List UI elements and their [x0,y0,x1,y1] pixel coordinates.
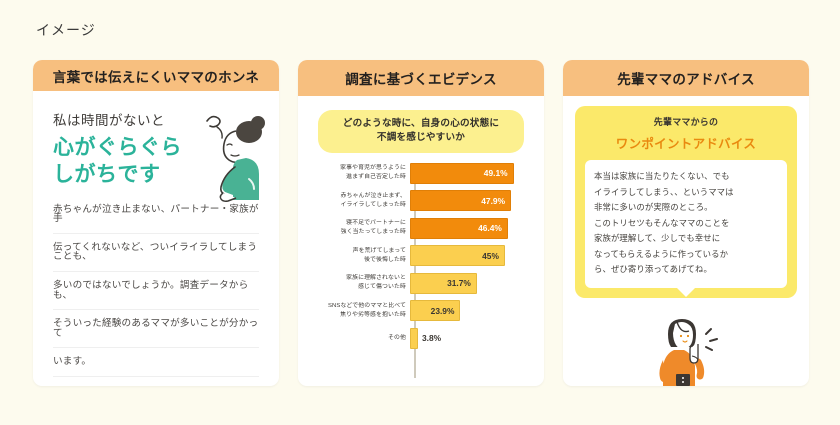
page-root: イメージ 言葉では伝えにくいママのホンネ [0,0,840,425]
chart-bar-value: 3.8% [417,333,441,343]
chart-bar: 49.1% [410,163,514,184]
card-2-header: 調査に基づくエビデンス [298,60,544,96]
woman-pointing-up-illustration [646,312,726,386]
chart-bar-area: 23.9% [410,300,532,321]
chart-rows: 家事や育児が思うように進まず自己否定した時49.1%赤ちゃんが泣き止まず、イライ… [310,163,532,349]
chart-bar-area: 47.9% [410,190,532,211]
chart-row: 声を荒げてしまって後で後悔した時45% [310,245,532,266]
advice-line: 非常に多いのが実際のところ。 [594,200,778,216]
card-1-header: 言葉では伝えにくいママのホンネ [33,60,279,91]
card-3-title: 先輩ママのアドバイス [617,68,755,88]
advice-line: イライラしてしまう、、というママは [594,185,778,201]
survey-bar-chart: 家事や育児が思うように進まず自己否定した時49.1%赤ちゃんが泣き止まず、イライ… [310,163,532,386]
chart-row: 家事や育児が思うように進まず自己否定した時49.1% [310,163,532,184]
chart-bar-value: 31.7% [447,278,476,288]
card-3-header: 先輩ママのアドバイス [563,60,809,96]
chart-question-pill: どのような時に、自身の心の状態に 不調を感じやすいか [318,110,524,153]
page-label: イメージ [36,20,96,40]
card-2-title: 調査に基づくエビデンス [345,68,497,88]
advice-line: 家族が理解して、少しでも幸せに [594,231,778,247]
chart-row: SNSなどで他のママと比べて焦りや劣等感を抱いた時23.9% [310,300,532,321]
chart-bar-value: 23.9% [431,306,460,316]
card-1-body-line: います。 [53,357,259,377]
chart-bar-value: 49.1% [484,168,513,178]
advice-line: なってもらえるように作っているか [594,247,778,263]
chart-row: 家族に理解されないと感じて傷ついた時31.7% [310,273,532,294]
card-1-body-line: 赤ちゃんが泣き止まない、パートナー・家族が手 [53,205,259,234]
card-2-body: どのような時に、自身の心の状態に 不調を感じやすいか 家事や育児が思うように進ま… [298,96,544,386]
chart-bar-area: 31.7% [410,273,532,294]
advice-line: このトリセツもそんなママのことを [594,216,778,232]
chart-row: 寝不足でパートナーに強く当たってしまった時46.4% [310,218,532,239]
chart-bar: 47.9% [410,190,511,211]
chart-bar-area: 49.1% [410,163,532,184]
advice-line: ら、ぜひ寄り添ってあげてね。 [594,262,778,278]
chart-row-label: 赤ちゃんが泣き止まず、イライラしてしまった時 [310,192,410,210]
card-senior-mom-advice: 先輩ママのアドバイス 先輩ママからの ワンポイントアドバイス 本当は家族に当たり… [563,60,809,386]
chart-row: 赤ちゃんが泣き止まず、イライラしてしまった時47.9% [310,190,532,211]
card-1-body-line: 伝ってくれないなど、ついイライラしてしまうことも、 [53,243,259,272]
card-3-body: 先輩ママからの ワンポイントアドバイス 本当は家族に当たりたくない、でも イライ… [563,96,809,386]
chart-bar-value: 45% [482,251,504,261]
advice-text-balloon: 本当は家族に当たりたくない、でも イライラしてしまう、、というママは 非常に多い… [585,160,787,288]
chart-row-label: 声を荒げてしまって後で後悔した時 [310,247,410,265]
chart-bar-area: 46.4% [410,218,532,239]
chart-bar-area: 45% [410,245,532,266]
card-1-headline-line1: 心がぐらぐら [53,135,182,161]
card-1-body-line: そういった経験のあるママが多いことが分かって [53,319,259,348]
chart-bar-value: 46.4% [478,223,507,233]
card-1-body: 私は時間がないと 心がぐらぐら しがちです 赤ちゃんが泣き止まない、パートナー・… [33,91,279,386]
chart-row-label: 家事や育児が思うように進まず自己否定した時 [310,164,410,182]
advice-subtitle: 先輩ママからの [585,115,787,128]
advice-line: 本当は家族に当たりたくない、でも [594,169,778,185]
chart-row-label: SNSなどで他のママと比べて焦りや劣等感を抱いた時 [310,302,410,320]
chart-row: その他3.8% [310,328,532,349]
chart-row-label: 寝不足でパートナーに強く当たってしまった時 [310,219,410,237]
chart-row-label: その他 [310,334,410,343]
chart-bar: 23.9% [410,300,460,321]
card-1-body-text: 赤ちゃんが泣き止まない、パートナー・家族が手 伝ってくれないなど、ついイライラし… [53,205,259,377]
card-1-body-line: 多いのではないでしょうか。調査データからも、 [53,281,259,310]
chart-bar: 45% [410,245,505,266]
chart-question-line-2: 不調を感じやすいか [328,131,514,145]
card-1-title: 言葉では伝えにくいママのホンネ [53,66,259,86]
card-mothers-honest-feelings: 言葉では伝えにくいママのホンネ 私は時間がないと [33,60,279,386]
chart-bar-area: 3.8% [410,328,532,349]
advice-title: ワンポイントアドバイス [585,133,787,152]
chart-bar: 31.7% [410,273,477,294]
chart-bar-value: 47.9% [481,196,510,206]
chart-row-label: 家族に理解されないと感じて傷ついた時 [310,274,410,292]
chart-bar: 46.4% [410,218,508,239]
chart-question-line-1: どのような時に、自身の心の状態に [328,117,514,131]
card-survey-evidence: 調査に基づくエビデンス どのような時に、自身の心の状態に 不調を感じやすいか 家… [298,60,544,386]
advice-box: 先輩ママからの ワンポイントアドバイス 本当は家族に当たりたくない、でも イライ… [575,106,797,298]
woman-sighing-illustration [197,105,271,205]
card-container: 言葉では伝えにくいママのホンネ 私は時間がないと [33,60,809,386]
chart-bar: 3.8% [410,328,418,349]
